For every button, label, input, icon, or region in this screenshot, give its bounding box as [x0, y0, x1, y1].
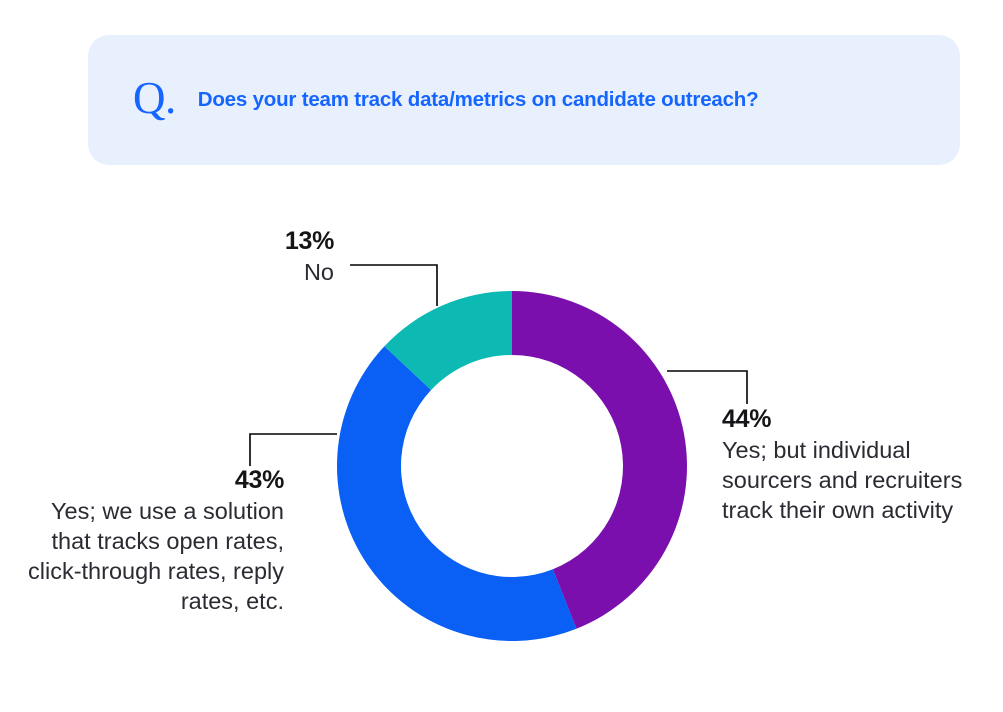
callout-yes-tool-description: Yes; we use a solution that tracks open … [18, 496, 284, 616]
donut-slice-group [337, 291, 687, 641]
callout-no: 13% No [174, 226, 334, 287]
callout-yes-individual: 44% Yes; but individual sourcers and rec… [722, 404, 972, 525]
callout-no-percent: 13% [174, 226, 334, 257]
callout-no-description: No [174, 257, 334, 287]
callout-yes-individual-description: Yes; but individual sourcers and recruit… [722, 435, 972, 525]
leader-line-yes-tool [250, 434, 337, 466]
callout-yes-individual-percent: 44% [722, 404, 972, 435]
donut-chart: 13% No 43% Yes; we use a solution that t… [0, 0, 1003, 712]
leader-line-yes-individual [667, 371, 747, 404]
callout-yes-tool: 43% Yes; we use a solution that tracks o… [18, 465, 284, 616]
callout-yes-tool-percent: 43% [18, 465, 284, 496]
leader-line-no [350, 265, 437, 306]
donut-slice-43 [337, 346, 576, 641]
